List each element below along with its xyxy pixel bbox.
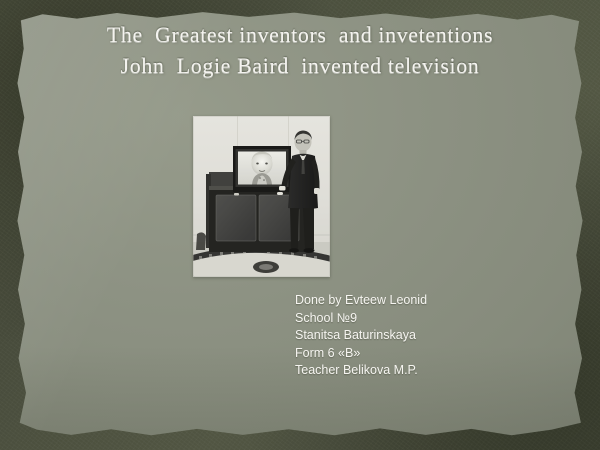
credit-line-stanitsa: Stanitsa Baturinskaya bbox=[295, 327, 427, 345]
credit-line-school: School №9 bbox=[295, 310, 427, 328]
john-logie-baird-television-photo bbox=[193, 116, 330, 277]
photo-artwork bbox=[193, 116, 330, 277]
slide-title: The Greatest inventors and invetentions … bbox=[0, 20, 600, 81]
title-line-2: John Logie Baird invented television bbox=[0, 50, 600, 81]
credits-block: Done by Evteew Leonid School №9 Stanitsa… bbox=[295, 292, 427, 380]
title-line-1: The Greatest inventors and invetentions bbox=[0, 20, 600, 50]
presentation-slide: The Greatest inventors and invetentions … bbox=[0, 0, 600, 450]
credit-line-teacher: Teacher Belikova M.P. bbox=[295, 362, 427, 380]
credit-line-author: Done by Evteew Leonid bbox=[295, 292, 427, 310]
credit-line-form: Form 6 «B» bbox=[295, 345, 427, 363]
